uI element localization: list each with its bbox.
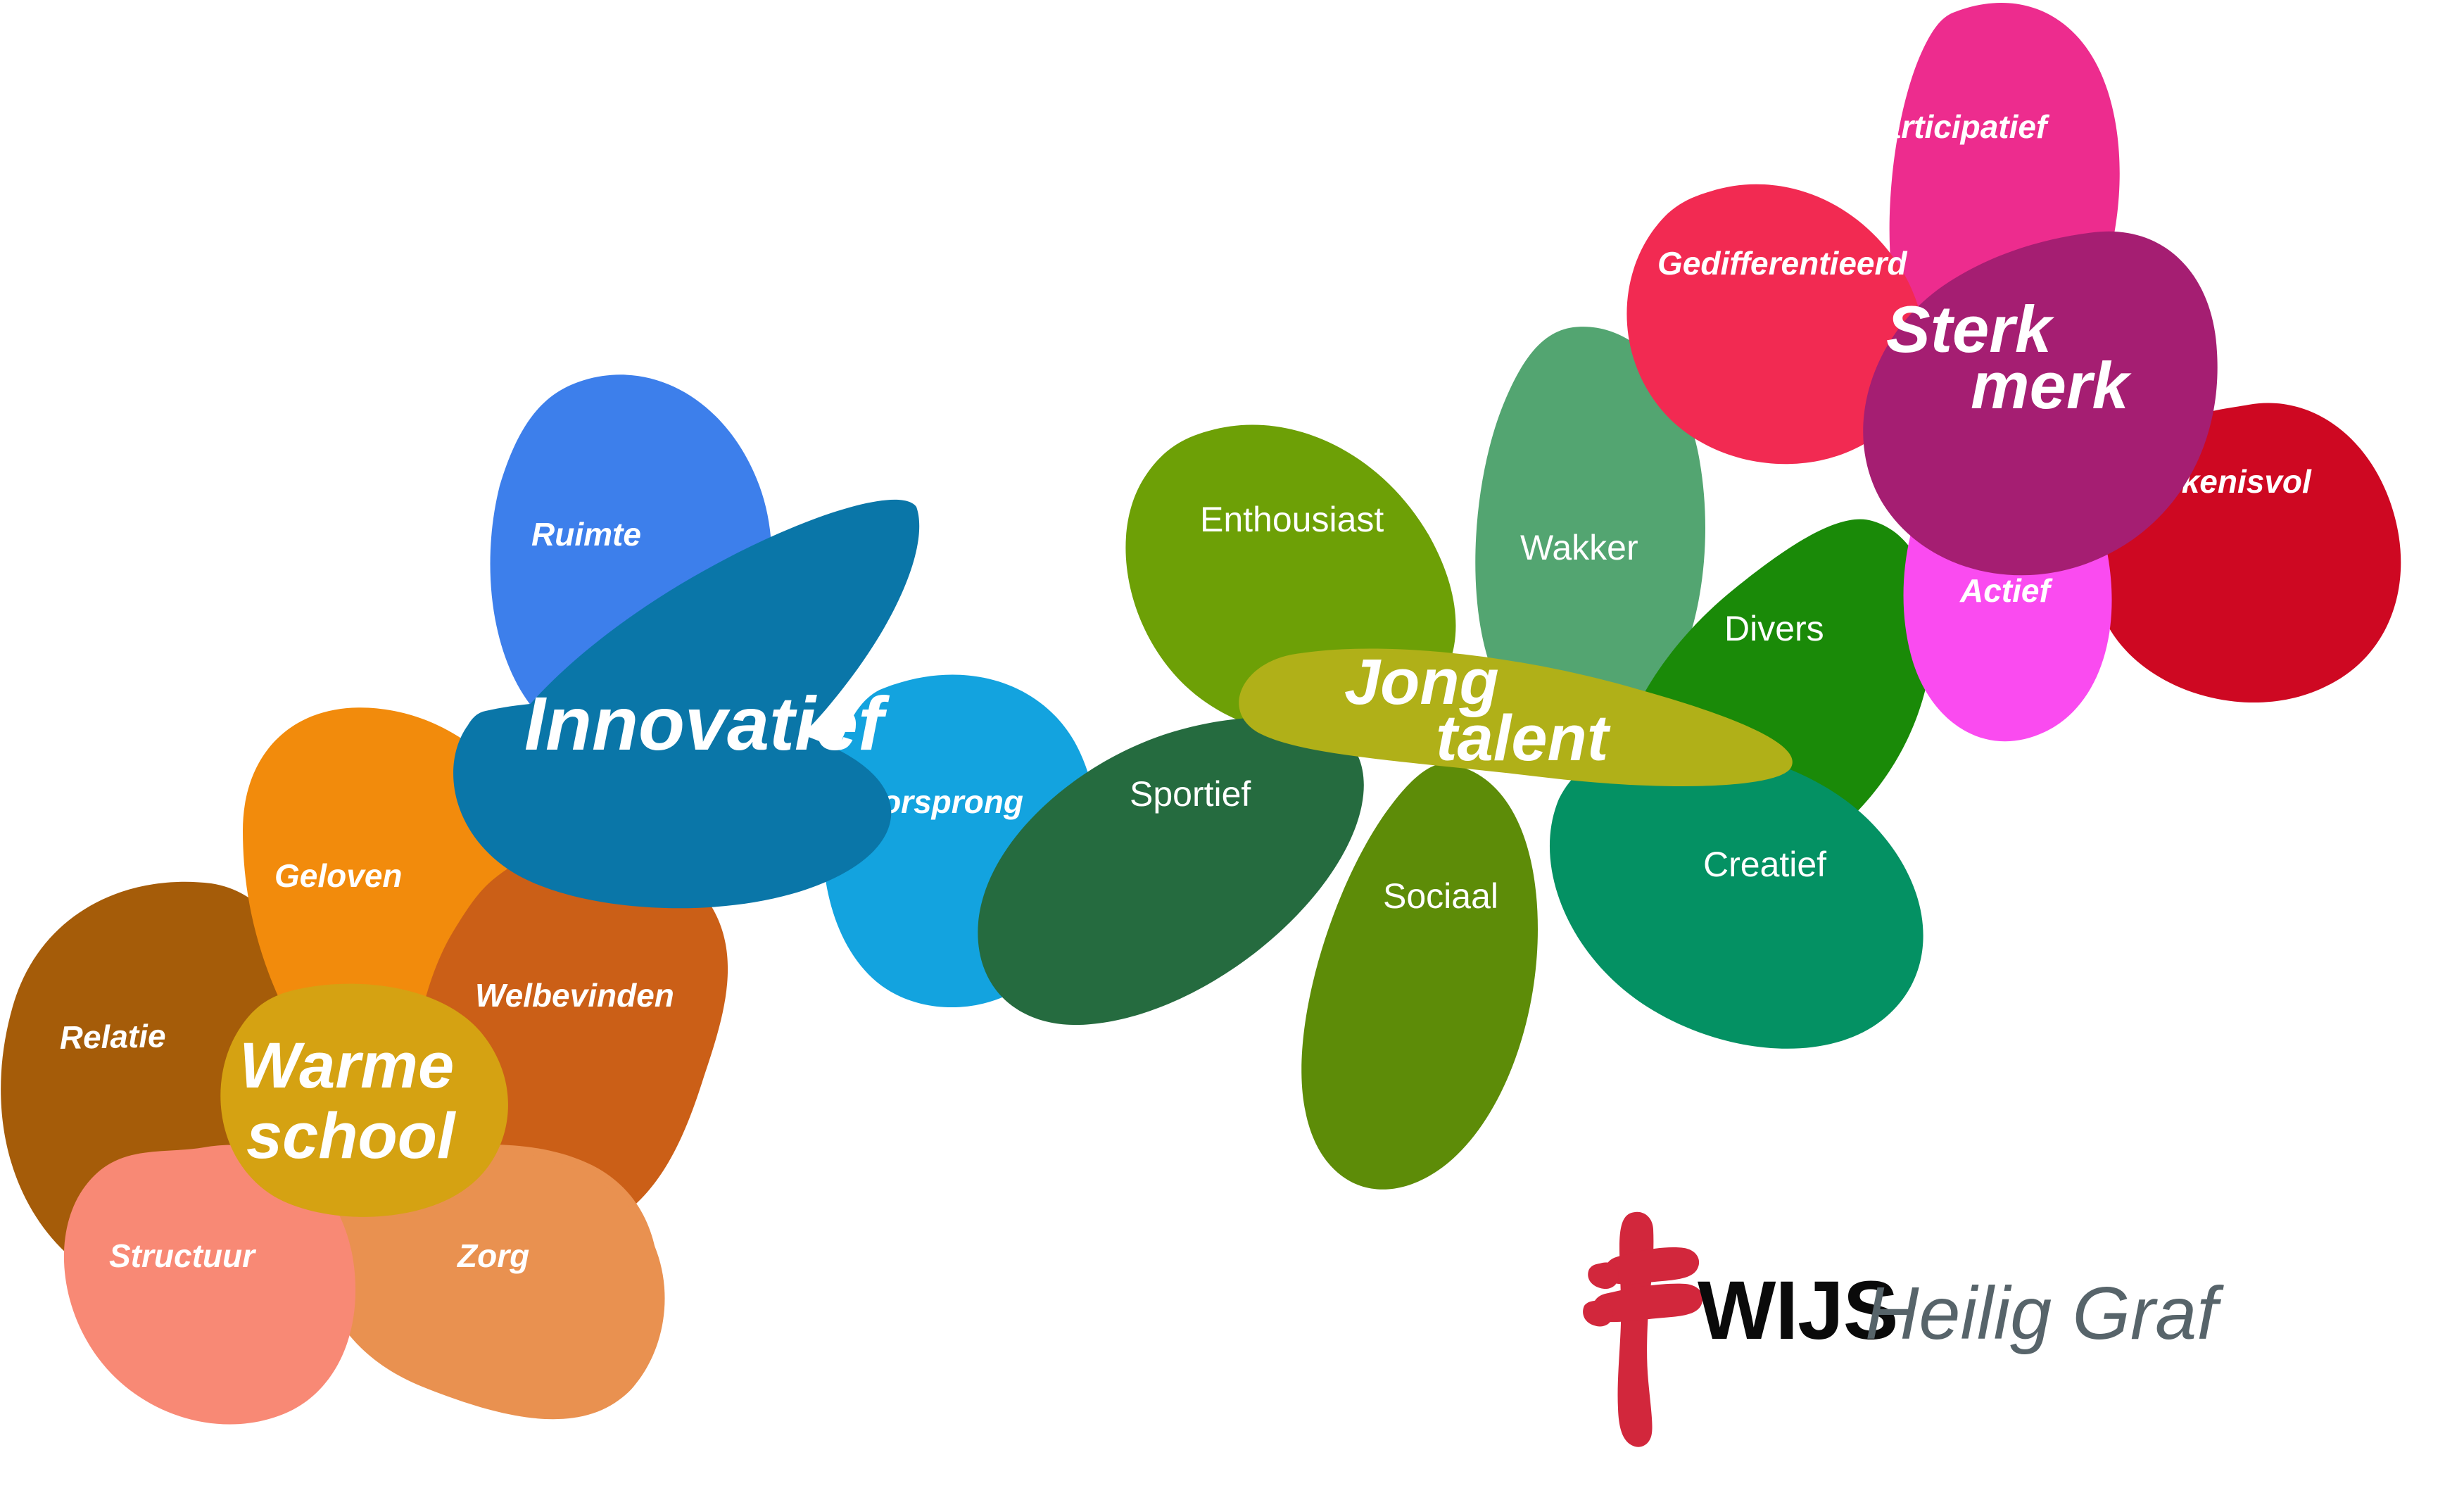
petal-wakker-label: Wakker xyxy=(1520,528,1638,567)
wijs-f-mark-arm-upper xyxy=(1605,1247,1699,1285)
petal-creatief-label: Creatief xyxy=(1703,845,1826,884)
center-warme-school[interactable]: Warme school xyxy=(220,984,508,1217)
petal-participatief-label: Participatief xyxy=(1862,108,2050,145)
wijs-f-mark-stroke xyxy=(1618,1212,1654,1447)
petal-welbevinden-label: Welbevinden xyxy=(475,977,674,1014)
center-jong-talent-line2: talent xyxy=(1436,702,1611,774)
center-innovatief-line1: Innovatief xyxy=(524,681,890,766)
center-warme-school-line1: Warme xyxy=(239,1030,454,1102)
petal-sportief-label: Sportief xyxy=(1130,774,1251,814)
logo-sub-text: Heilig Graf xyxy=(1865,1272,2224,1355)
petal-sociaal-label: Sociaal xyxy=(1383,876,1498,916)
petal-gedifferentieerd-label: Gedifferentieerd xyxy=(1657,245,1907,282)
petal-structuur-label: Structuur xyxy=(109,1237,256,1274)
center-sterk-merk-line2: merk xyxy=(1971,348,2132,422)
petal-actief-label: Actief xyxy=(1959,572,2053,609)
wijs-f-mark-icon xyxy=(1583,1212,1702,1447)
logo-wijs-heilig-graf[interactable]: WIJS Heilig Graf xyxy=(1583,1212,2224,1447)
infographic-canvas: Relatie Geloven Welbevinden Zorg xyxy=(0,0,2464,1500)
wijs-f-mark-left-tick xyxy=(1588,1263,1619,1290)
center-warme-school-line2: school xyxy=(246,1100,457,1172)
petal-zorg-label: Zorg xyxy=(456,1237,529,1274)
petal-relatie-label: Relatie xyxy=(59,1017,166,1056)
petal-ruimte-label: Ruimte xyxy=(531,516,641,553)
petal-geloven-label: Geloven xyxy=(274,857,403,894)
petal-enthousiast-label: Enthousiast xyxy=(1200,500,1384,539)
wijs-f-mark-left-tick2 xyxy=(1583,1300,1613,1327)
petal-divers-label: Divers xyxy=(1724,609,1824,648)
flower-diagram: Relatie Geloven Welbevinden Zorg xyxy=(0,0,2464,1500)
